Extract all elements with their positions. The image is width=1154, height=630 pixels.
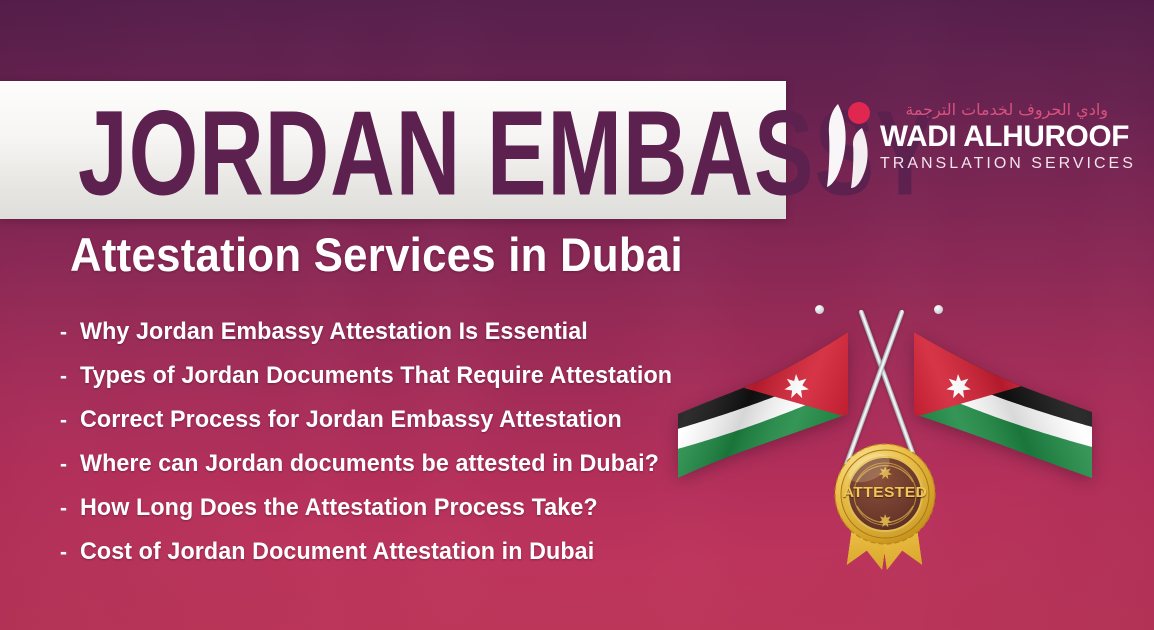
flag-pole-finial-right (934, 305, 943, 314)
list-item: - Types of Jordan Documents That Require… (60, 362, 700, 406)
list-item-label: Types of Jordan Documents That Require A… (80, 362, 672, 390)
logo-arabic-name: وادي الحروف لخدمات الترجمة (880, 100, 1108, 120)
list-item: - Cost of Jordan Document Attestation in… (60, 538, 700, 582)
bullet-dash-icon: - (60, 409, 80, 433)
bullet-dash-icon: - (60, 541, 80, 565)
bullet-dash-icon: - (60, 497, 80, 521)
bullet-dash-icon: - (60, 321, 80, 345)
topic-list: - Why Jordan Embassy Attestation Is Esse… (60, 318, 700, 582)
list-item: - How Long Does the Attestation Process … (60, 494, 700, 538)
list-item-label: Correct Process for Jordan Embassy Attes… (80, 406, 622, 434)
list-item-label: How Long Does the Attestation Process Ta… (80, 494, 598, 522)
logo-company-name: WADI ALHUROOF (880, 120, 1106, 154)
list-item-label: Cost of Jordan Document Attestation in D… (80, 538, 594, 566)
title-band: JORDAN EMBASSY (0, 81, 786, 219)
list-item: - Why Jordan Embassy Attestation Is Esse… (60, 318, 700, 362)
badge-label: ATTESTED (821, 484, 950, 501)
page-title: JORDAN EMBASSY (78, 93, 936, 214)
attested-badge: ATTESTED (823, 440, 947, 585)
flag-pole-finial-left (815, 305, 824, 314)
list-item-label: Why Jordan Embassy Attestation Is Essent… (80, 318, 588, 346)
jordan-embassy-attestation-banner: JORDAN EMBASSY Attestation Services in D… (0, 0, 1154, 630)
logo-tagline: TRANSLATION SERVICES (880, 154, 1108, 174)
wadi-alhuroof-flame-mark-icon (818, 98, 880, 190)
list-item: - Correct Process for Jordan Embassy Att… (60, 406, 700, 450)
list-item-label: Where can Jordan documents be attested i… (80, 450, 659, 478)
logo-text-block: وادي الحروف لخدمات الترجمة WADI ALHUROOF… (880, 100, 1108, 174)
bullet-dash-icon: - (60, 453, 80, 477)
list-item: - Where can Jordan documents be attested… (60, 450, 700, 494)
company-logo: وادي الحروف لخدمات الترجمة WADI ALHUROOF… (818, 96, 1108, 196)
page-subtitle: Attestation Services in Dubai (70, 228, 683, 282)
bullet-dash-icon: - (60, 365, 80, 389)
